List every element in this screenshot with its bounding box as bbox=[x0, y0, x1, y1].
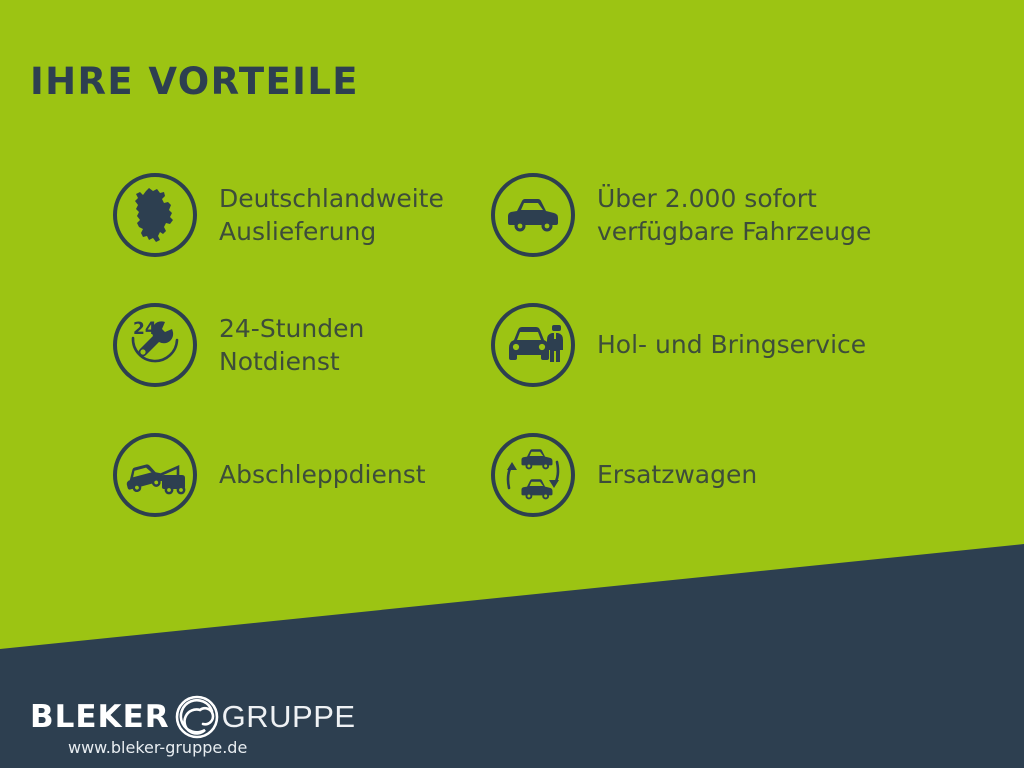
slide-canvas: IHRE VORTEILE Deutschlandweite Ausliefer… bbox=[0, 0, 1024, 768]
benefit-label: Ersatzwagen bbox=[597, 458, 757, 491]
24-hour-wrench-icon: 24 bbox=[113, 303, 197, 387]
benefit-item-abschleppdienst: Abschleppdienst bbox=[0, 410, 390, 540]
benefits-grid: Deutschlandweite Auslieferung Über 2.000… bbox=[0, 150, 1024, 540]
logo-secondary-text: GRUPPE bbox=[222, 699, 356, 735]
page-title: IHRE VORTEILE bbox=[30, 60, 359, 103]
logo-primary-text: BLEKER bbox=[30, 699, 170, 735]
company-logo: BLEKER GRUPPE bbox=[30, 694, 356, 740]
spiral-logo-icon bbox=[174, 694, 220, 740]
car-side-icon bbox=[491, 173, 575, 257]
germany-map-icon bbox=[113, 173, 197, 257]
benefit-item-ersatzwagen: Ersatzwagen bbox=[390, 410, 1024, 540]
website-url: www.bleker-gruppe.de bbox=[68, 738, 247, 757]
car-with-driver-icon bbox=[491, 303, 575, 387]
tow-truck-icon bbox=[113, 433, 197, 517]
benefit-item-verfuegbare-fahrzeuge: Über 2.000 sofort verfügbare Fahrzeuge bbox=[390, 150, 1024, 280]
benefit-item-deutschlandweite-auslieferung: Deutschlandweite Auslieferung bbox=[0, 150, 390, 280]
replacement-car-swap-icon bbox=[491, 433, 575, 517]
benefit-label: Über 2.000 sofort verfügbare Fahrzeuge bbox=[597, 182, 871, 249]
benefit-label: Hol- und Bringservice bbox=[597, 328, 866, 361]
benefit-item-24-stunden-notdienst: 24 24-Stunden Notdienst bbox=[0, 280, 390, 410]
benefit-item-hol-und-bringservice: Hol- und Bringservice bbox=[390, 280, 1024, 410]
benefit-label: 24-Stunden Notdienst bbox=[219, 312, 364, 379]
